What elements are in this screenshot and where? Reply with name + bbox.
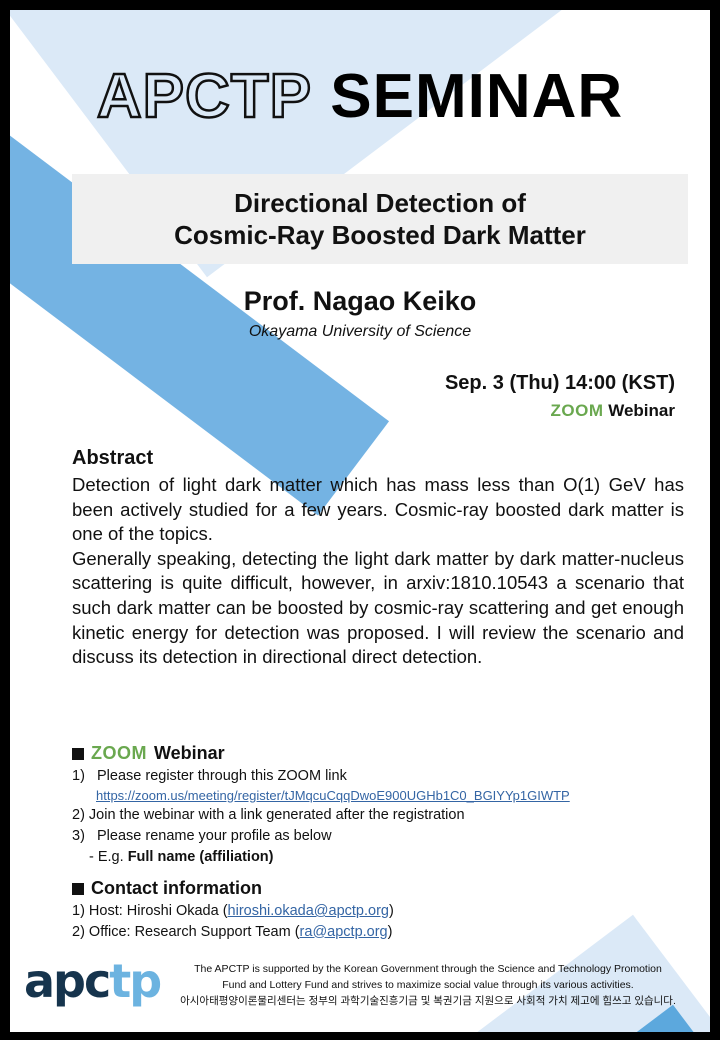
seminar-datetime: Sep. 3 (Thu) 14:00 (KST)	[445, 372, 675, 395]
bullet-square-icon	[72, 883, 84, 895]
contact-heading-label: Contact information	[91, 878, 262, 899]
contact-office-suffix: )	[388, 924, 393, 940]
zoom-brand-label: ZOOM	[551, 401, 604, 420]
contact-host-line: 1) Host: Hiroshi Okada (hiroshi.okada@ap…	[72, 901, 692, 922]
platform-label: Webinar	[608, 401, 675, 420]
footer-korean-line: 아시아태평양이론물리센터는 정부의 과학기술진흥기금 및 복권기금 지원으로 사…	[160, 994, 696, 1010]
seminar-title-line-2: Cosmic-Ray Boosted Dark Matter	[174, 219, 586, 252]
contact-office-line: 2) Office: Research Support Team (ra@apc…	[72, 922, 692, 943]
zoom-step-3-example: - E.g. Full name (affiliation)	[72, 847, 692, 868]
host-email-link[interactable]: hiroshi.okada@apctp.org	[228, 903, 389, 919]
zoom-section-label: Webinar	[154, 743, 225, 764]
footer-english-line-1: The APCTP is supported by the Korean Gov…	[160, 962, 696, 978]
contact-information-section: Contact information 1) Host: Hiroshi Oka…	[72, 878, 692, 942]
zoom-section-brand: ZOOM	[91, 743, 147, 764]
abstract-heading: Abstract	[72, 447, 153, 470]
abstract-body: Detection of light dark matter which has…	[72, 473, 684, 670]
speaker-name: Prof. Nagao Keiko	[10, 286, 710, 317]
apctp-logo: apctp	[24, 958, 160, 1004]
zoom-example-prefix: - E.g.	[89, 849, 128, 865]
poster-headline: APCTP SEMINAR	[10, 66, 710, 128]
seminar-title-block: Directional Detection of Cosmic-Ray Boos…	[72, 174, 688, 264]
speaker-affiliation: Okayama University of Science	[10, 323, 710, 341]
poster-footer: apctp The APCTP is supported by the Kore…	[10, 956, 710, 1018]
headline-outline-text: APCTP	[97, 62, 312, 131]
zoom-webinar-section: ZOOM Webinar 1) Please register through …	[72, 743, 692, 867]
seminar-poster: APCTP SEMINAR Directional Detection of C…	[10, 10, 710, 1032]
zoom-registration-link[interactable]: https://zoom.us/meeting/register/tJMqcuC…	[96, 788, 570, 803]
zoom-section-heading: ZOOM Webinar	[72, 743, 692, 764]
contact-office-prefix: 2) Office: Research Support Team (	[72, 924, 300, 940]
logo-text-dark: apc	[24, 954, 109, 1008]
logo-text-light: tp	[109, 954, 160, 1008]
zoom-step-1: 1) Please register through this ZOOM lin…	[72, 766, 692, 787]
zoom-step-3-number: 3)	[72, 828, 85, 844]
zoom-step-3: 3) Please rename your profile as below	[72, 826, 692, 847]
footer-english-line-2: Fund and Lottery Fund and strives to max…	[160, 978, 696, 994]
headline-solid-text: SEMINAR	[330, 62, 623, 131]
abstract-paragraph-2: Generally speaking, detecting the light …	[72, 547, 684, 670]
seminar-platform: ZOOM Webinar	[551, 401, 676, 421]
contact-section-heading: Contact information	[72, 878, 692, 899]
bullet-square-icon	[72, 748, 84, 760]
zoom-example-bold: Full name (affiliation)	[128, 849, 274, 865]
zoom-step-2: 2) Join the webinar with a link generate…	[72, 805, 692, 826]
zoom-registration-url-line: https://zoom.us/meeting/register/tJMqcuC…	[72, 787, 692, 806]
footer-support-statement: The APCTP is supported by the Korean Gov…	[160, 962, 696, 1009]
zoom-step-1-number: 1)	[72, 768, 85, 784]
zoom-step-1-text: Please register through this ZOOM link	[97, 768, 347, 784]
contact-host-suffix: )	[389, 903, 394, 919]
abstract-paragraph-1: Detection of light dark matter which has…	[72, 473, 684, 547]
seminar-title-line-1: Directional Detection of	[234, 187, 526, 220]
zoom-step-3-text: Please rename your profile as below	[97, 828, 332, 844]
office-email-link[interactable]: ra@apctp.org	[300, 924, 388, 940]
contact-host-prefix: 1) Host: Hiroshi Okada (	[72, 903, 228, 919]
